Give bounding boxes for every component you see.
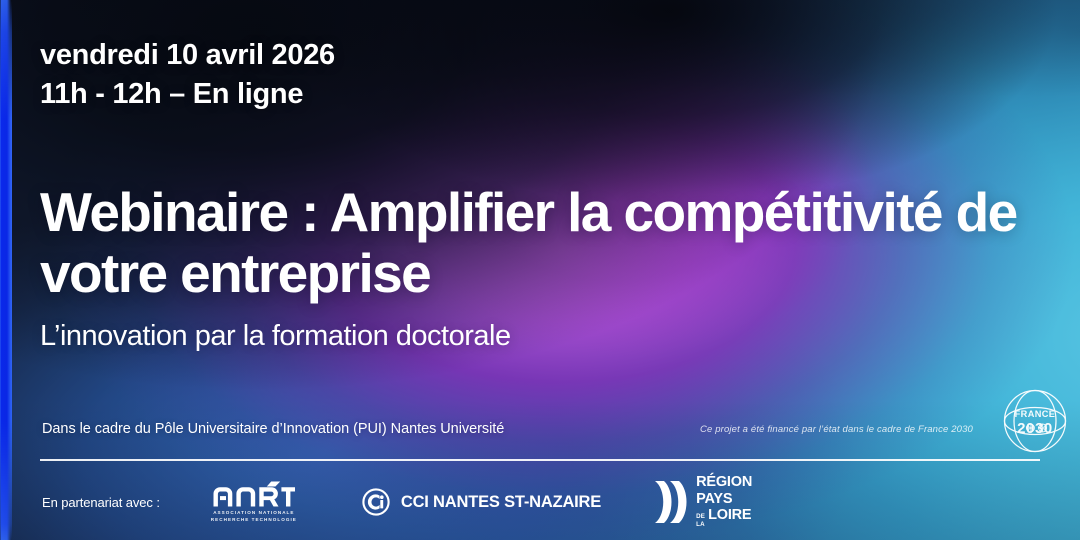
- funding-note: Ce projet a été financé par l’état dans …: [700, 424, 973, 435]
- program-credit: Dans le cadre du Pôle Universitaire d’In…: [42, 421, 504, 437]
- france-2030-logo: FRANCE 2030: [998, 388, 1072, 454]
- banner-content: vendredi 10 avril 2026 11h - 12h – En li…: [0, 0, 1080, 540]
- cci-mark-icon: [362, 488, 390, 516]
- region-line-3-small-la: LA: [696, 521, 705, 528]
- france-2030-top-text: FRANCE: [1015, 409, 1056, 419]
- partners-row: En partenariat avec : ASSOCIATION NATION…: [42, 474, 1042, 530]
- event-banner: vendredi 10 avril 2026 11h - 12h – En li…: [0, 0, 1080, 540]
- page-subtitle: L’innovation par la formation doctorale: [40, 318, 511, 354]
- anrt-subtitle-line1: ASSOCIATION NATIONALE: [211, 510, 297, 517]
- event-datetime-block: vendredi 10 avril 2026 11h - 12h – En li…: [40, 36, 335, 113]
- cci-label: CCI NANTES ST-NAZAIRE: [401, 493, 601, 512]
- region-pays-de-la-loire-mark-icon: [653, 479, 687, 525]
- region-line-3: DE LA LOIRE: [696, 508, 752, 529]
- region-wordmark: RÉGION PAYS DE LA LOIRE: [696, 475, 752, 529]
- region-line-3-small-de: DE: [696, 513, 705, 520]
- logo-region-pays-de-la-loire: RÉGION PAYS DE LA LOIRE: [653, 475, 752, 529]
- region-line-3-loire: LOIRE: [708, 508, 751, 523]
- footer-divider: [40, 459, 1040, 461]
- event-date: vendredi 10 avril 2026: [40, 39, 335, 71]
- partners-intro-label: En partenariat avec :: [42, 495, 160, 510]
- region-line-1: RÉGION: [696, 475, 752, 490]
- logo-cci-nantes-st-nazaire: CCI NANTES ST-NAZAIRE: [362, 488, 601, 516]
- france-2030-bottom-text: 2030: [1017, 420, 1053, 437]
- region-line-3-prefix: DE LA: [696, 513, 705, 528]
- logo-anrt: ASSOCIATION NATIONALE RECHERCHE TECHNOLO…: [202, 481, 306, 524]
- anrt-wordmark-icon: [213, 481, 295, 507]
- anrt-subtitle-line2: RECHERCHE TECHNOLOGIE: [211, 517, 297, 524]
- anrt-subtitle: ASSOCIATION NATIONALE RECHERCHE TECHNOLO…: [211, 510, 297, 524]
- region-line-2: PAYS: [696, 492, 752, 507]
- page-title: Webinaire : Amplifier la compétitivité d…: [40, 182, 1050, 303]
- event-time: 11h - 12h – En ligne: [40, 75, 335, 114]
